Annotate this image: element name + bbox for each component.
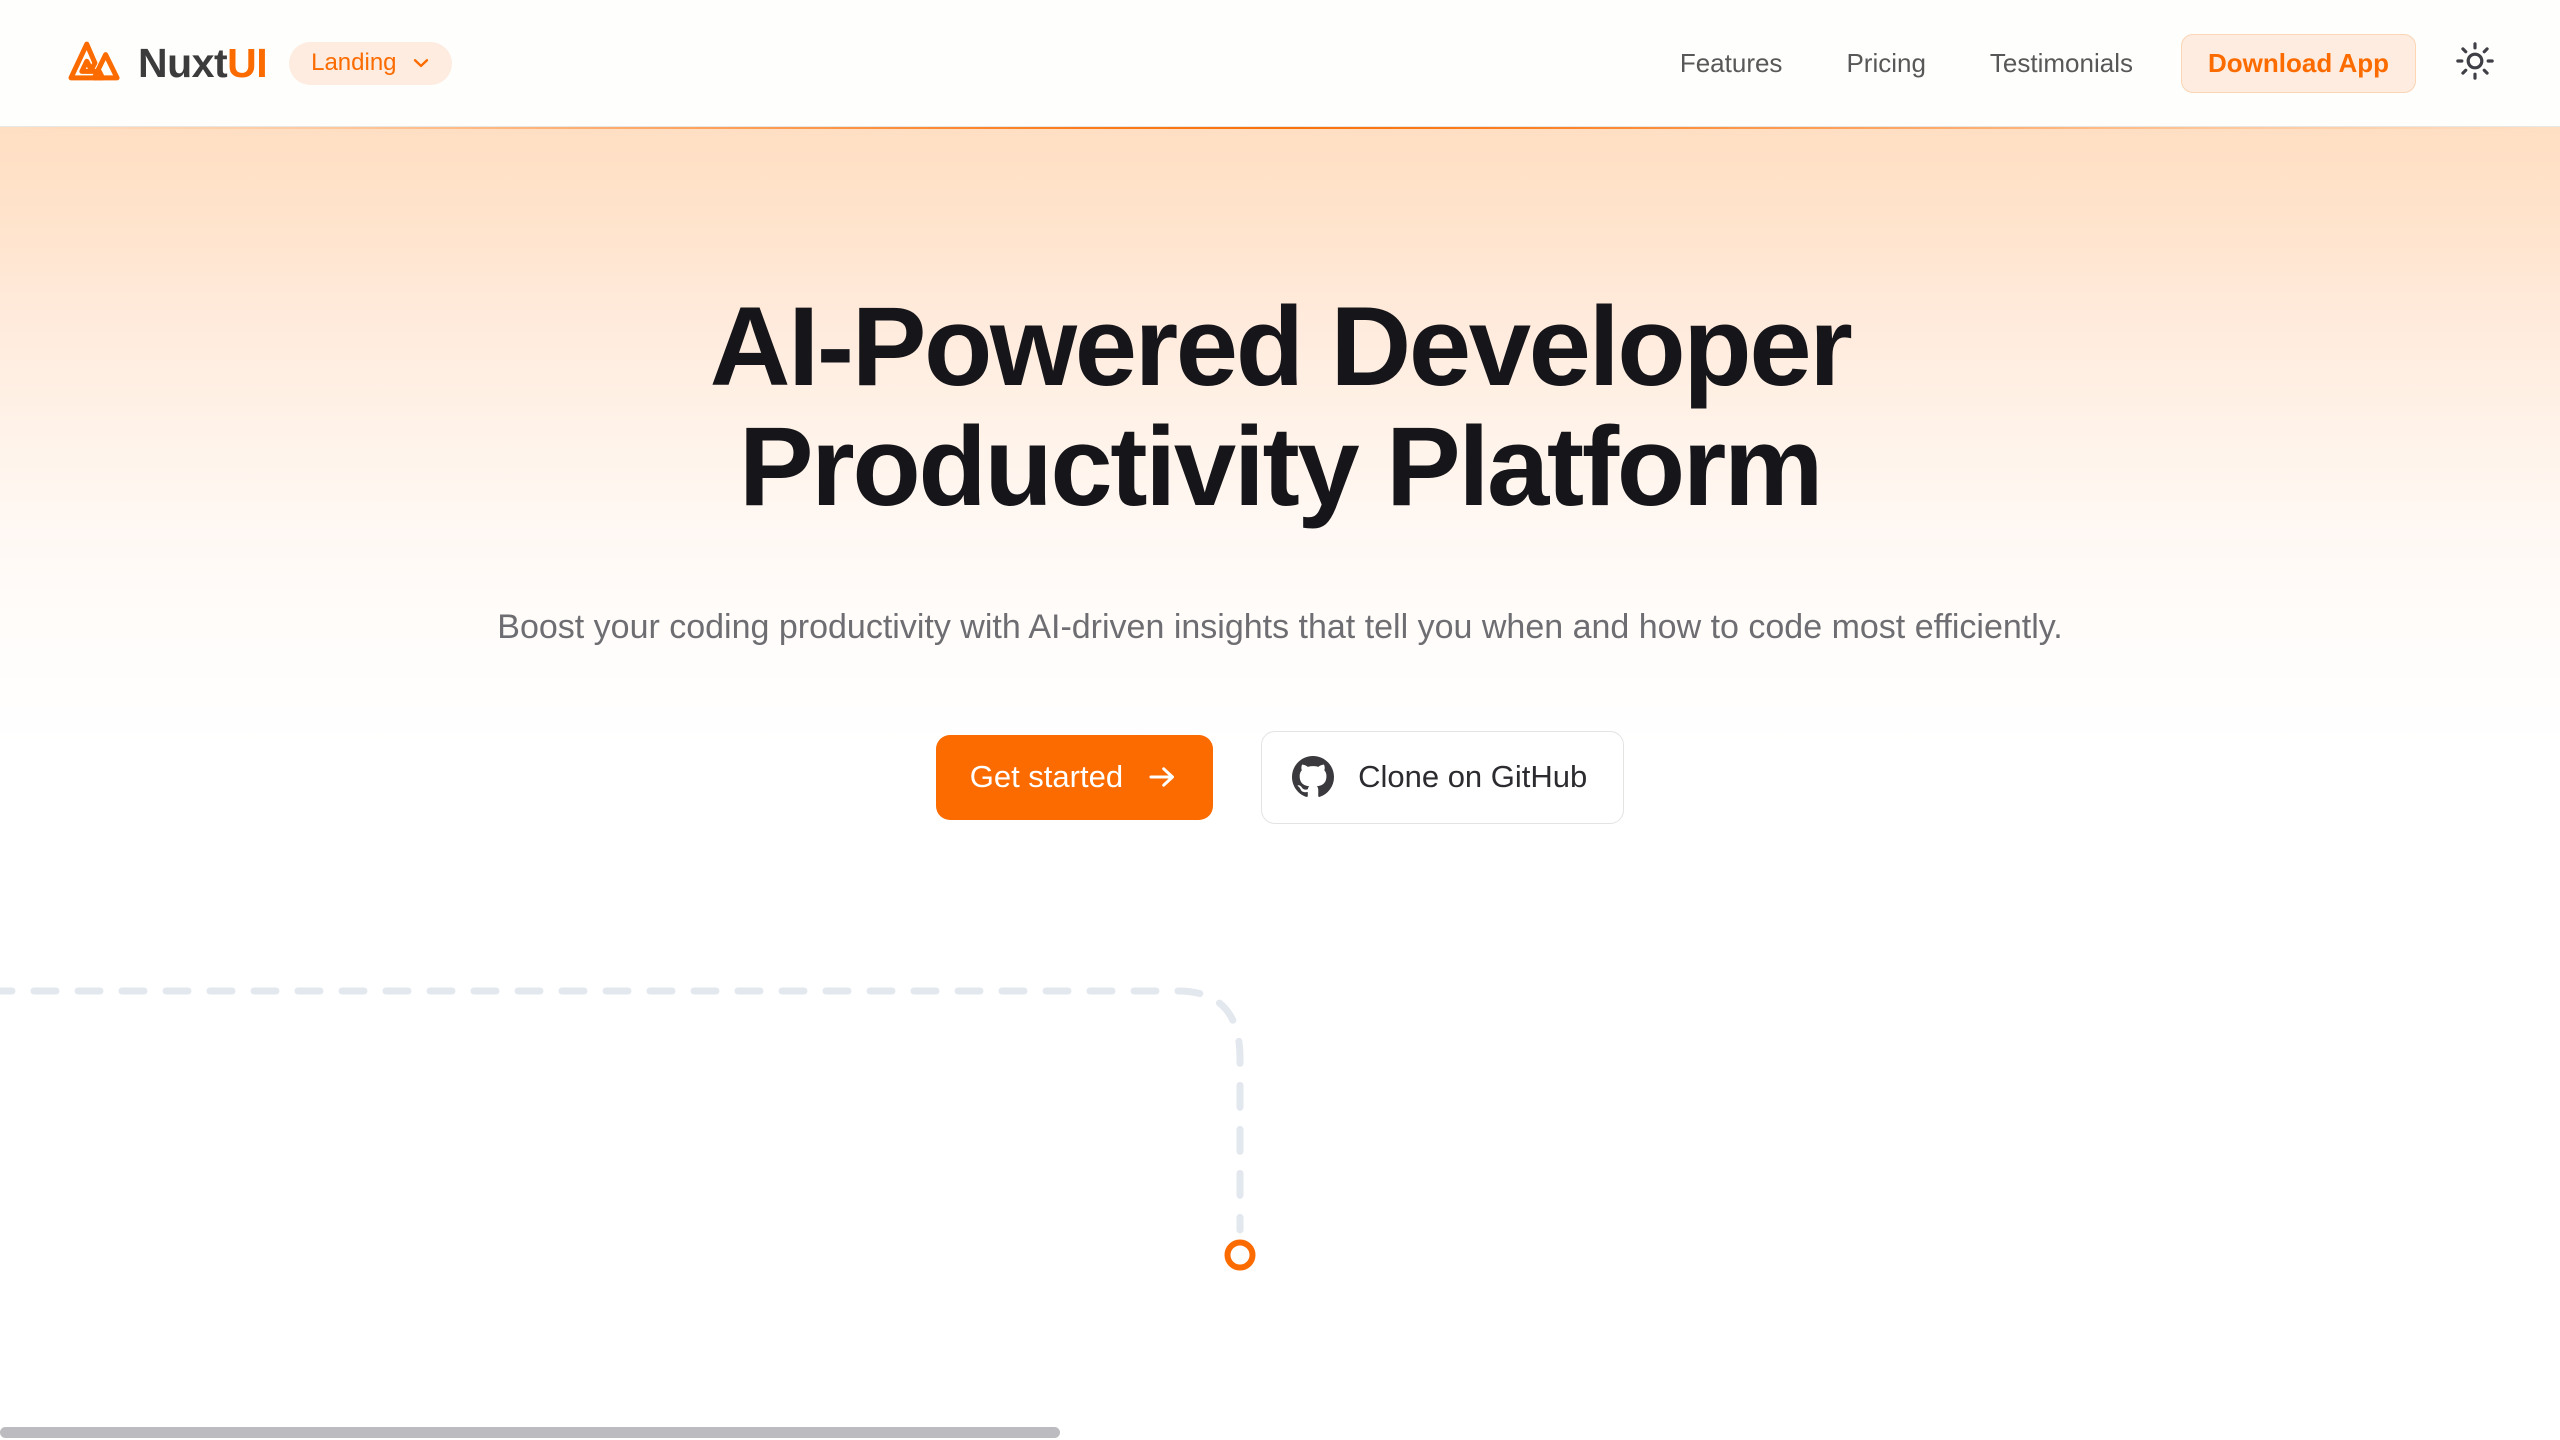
site-header: NuxtUI Landing Features Pricing Testimon…	[0, 0, 2560, 127]
hero-title-line-2: Productivity Platform	[739, 404, 1821, 529]
nav-link-features[interactable]: Features	[1660, 50, 1815, 76]
nuxt-mountain-logo-icon	[62, 41, 124, 85]
nav-link-testimonials[interactable]: Testimonials	[1958, 50, 2165, 76]
logo-wordmark: NuxtUI	[138, 43, 267, 84]
logo-link[interactable]: NuxtUI	[62, 41, 267, 85]
hero-cta-row: Get started Clone on GitHub	[0, 731, 2560, 824]
landing-badge-label: Landing	[311, 51, 396, 75]
theme-toggle-button[interactable]	[2452, 40, 2498, 86]
clone-on-github-button[interactable]: Clone on GitHub	[1261, 731, 1624, 824]
hero-subtitle: Boost your coding productivity with AI-d…	[230, 602, 2330, 653]
get-started-button[interactable]: Get started	[936, 735, 1213, 820]
download-app-button[interactable]: Download App	[2181, 34, 2416, 93]
orange-circle-node	[1228, 1243, 1253, 1268]
page-root: NuxtUI Landing Features Pricing Testimon…	[0, 0, 2560, 1440]
brand-area: NuxtUI Landing	[62, 41, 452, 85]
horizontal-scrollbar-thumb[interactable]	[0, 1427, 1060, 1438]
dashed-connector-path	[0, 930, 2560, 1350]
nav-link-pricing[interactable]: Pricing	[1814, 50, 1957, 76]
sun-icon	[2455, 41, 2495, 86]
get-started-label: Get started	[970, 761, 1123, 792]
primary-navigation: Features Pricing Testimonials Download A…	[1660, 34, 2498, 93]
logo-text-ui: UI	[227, 40, 267, 86]
hero-title-line-1: AI-Powered Developer	[710, 284, 1851, 409]
logo-text-nuxt: Nuxt	[138, 40, 227, 86]
chevron-down-icon	[410, 52, 432, 74]
page-title: AI-Powered Developer Productivity Platfo…	[450, 287, 2110, 527]
github-icon	[1292, 756, 1334, 798]
hero-section: AI-Powered Developer Productivity Platfo…	[0, 127, 2560, 824]
arrow-right-icon	[1145, 760, 1179, 794]
clone-on-github-label: Clone on GitHub	[1358, 761, 1587, 792]
landing-dropdown-badge[interactable]: Landing	[289, 42, 451, 85]
